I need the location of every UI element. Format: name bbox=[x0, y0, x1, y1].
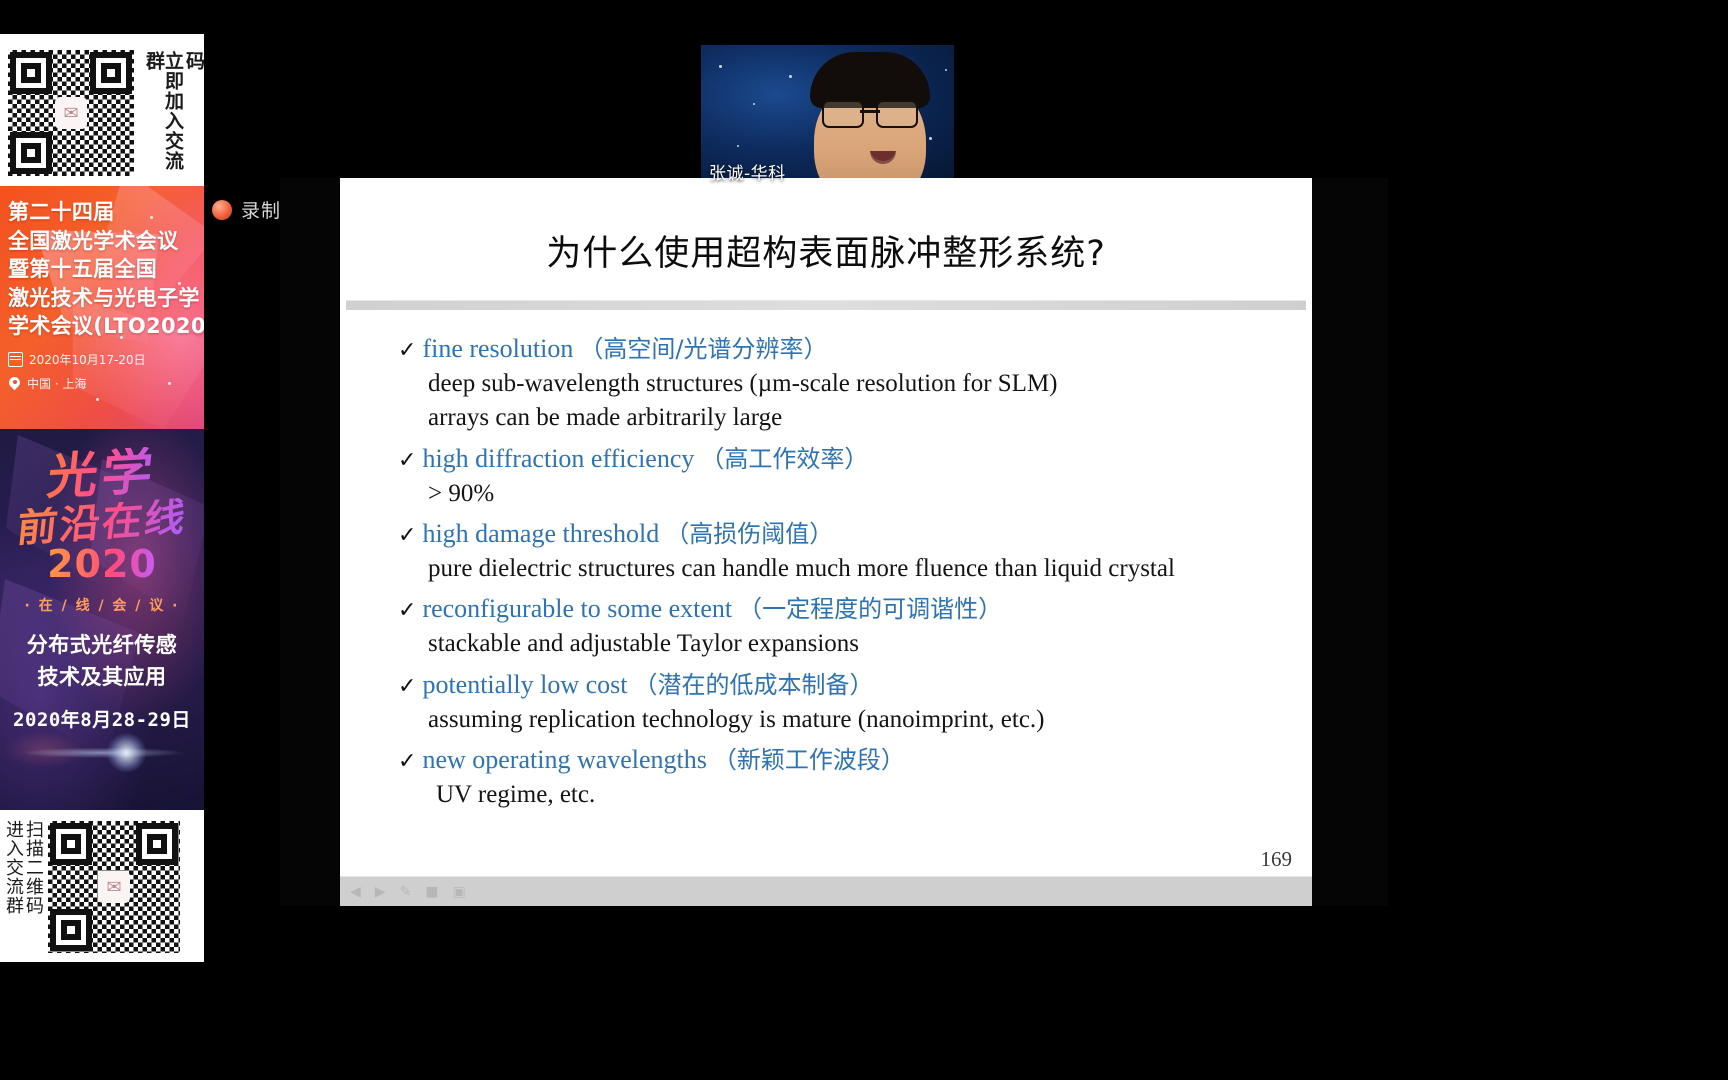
bullet-heading-en: reconfigurable to some extent bbox=[422, 592, 732, 627]
bullet-heading-en: fine resolution bbox=[422, 332, 573, 367]
bullet-group: ✓ high damage threshold （高损伤阈值） pure die… bbox=[398, 517, 1312, 586]
meeting-screen-share-area: 张诚-华科 录制 为什么使用超构表面脉冲整形系统? ✓ fine resolut… bbox=[204, 34, 1728, 962]
webinar-topic-line-2: 技术及其应用 bbox=[0, 663, 204, 693]
check-icon: ✓ bbox=[398, 450, 416, 472]
top-letterbox bbox=[0, 0, 1728, 34]
webinar-banner: 光学 前沿在线 2020 · 在 / 线 / 会 / 议 · 分布式光纤传感 技… bbox=[0, 429, 204, 810]
presentation-slide: 为什么使用超构表面脉冲整形系统? ✓ fine resolution （高空间/… bbox=[340, 178, 1312, 906]
qr-center-logo-icon: ✉ bbox=[55, 97, 87, 129]
conference-line-1: 第二十四届 bbox=[8, 198, 204, 227]
bullet-subtext: stackable and adjustable Taylor expansio… bbox=[428, 627, 1312, 662]
webinar-year: 2020 bbox=[47, 545, 157, 583]
check-icon: ✓ bbox=[398, 600, 416, 622]
conference-line-3: 暨第十五届全国 bbox=[8, 255, 204, 284]
slide-bullet-list: ✓ fine resolution （高空间/光谱分辨率） deep sub-w… bbox=[340, 310, 1312, 812]
bullet-heading-cn: （高损伤阈值） bbox=[665, 518, 833, 550]
qr-top-caption-left: 立即加入交流群 bbox=[144, 51, 182, 175]
bullet-heading-cn: （潜在的低成本制备） bbox=[634, 669, 874, 701]
bullet-subtext: assuming replication technology is matur… bbox=[428, 703, 1312, 738]
bullet-heading-en: high damage threshold bbox=[422, 517, 659, 552]
presenter-video-tile[interactable]: 张诚-华科 bbox=[701, 45, 954, 186]
qr-bottom-caption-left: 进入交流群 bbox=[4, 820, 22, 954]
next-slide-icon[interactable]: ▶ bbox=[375, 885, 386, 899]
pointer-icon[interactable]: ✎ bbox=[400, 885, 412, 899]
title-divider bbox=[346, 300, 1306, 310]
bullet-heading: ✓ new operating wavelengths （新颖工作波段） bbox=[398, 743, 1312, 778]
check-icon: ✓ bbox=[398, 751, 416, 773]
conference-meta: 2020年10月17-20日 中国 · 上海 bbox=[8, 351, 204, 392]
webinar-subtitle: · 在 / 线 / 会 / 议 · bbox=[0, 595, 204, 615]
share-frame-left bbox=[280, 178, 340, 906]
bullet-heading-cn: （一定程度的可调谐性） bbox=[738, 593, 1002, 625]
app-stage: ✉ 扫描左方二维码 立即加入交流群 第二十四届 全国激光学术会议 暨第十五届全国… bbox=[0, 0, 1728, 1080]
promo-sidebar: ✉ 扫描左方二维码 立即加入交流群 第二十四届 全国激光学术会议 暨第十五届全国… bbox=[0, 34, 204, 962]
glasses-icon bbox=[820, 100, 920, 124]
qr-center-logo-icon: ✉ bbox=[98, 871, 130, 903]
recording-label: 录制 bbox=[241, 196, 281, 223]
bullet-heading: ✓ reconfigurable to some extent （一定程度的可调… bbox=[398, 592, 1312, 627]
bullet-heading: ✓ high diffraction efficiency （高工作效率） bbox=[398, 442, 1312, 477]
location-pin-icon bbox=[8, 377, 21, 390]
check-icon: ✓ bbox=[398, 676, 416, 698]
conference-title-lines: 第二十四届 全国激光学术会议 暨第十五届全国 激光技术与光电子学 学术会议(LT… bbox=[8, 198, 204, 341]
share-frame-right bbox=[1312, 178, 1388, 906]
qr-code-icon[interactable]: ✉ bbox=[8, 50, 134, 176]
qr-top-block: ✉ 扫描左方二维码 立即加入交流群 bbox=[0, 34, 204, 186]
calendar-icon bbox=[8, 352, 23, 367]
webinar-brush-line-2: 前沿在线 bbox=[15, 497, 189, 549]
bullet-subtext: arrays can be made arbitrarily large bbox=[428, 401, 1312, 436]
conference-date-row: 2020年10月17-20日 bbox=[8, 351, 204, 368]
recording-indicator[interactable]: 录制 bbox=[212, 196, 281, 223]
qr-top-caption: 扫描左方二维码 立即加入交流群 bbox=[144, 51, 204, 175]
zoom-icon[interactable]: ▣ bbox=[453, 885, 466, 899]
bullet-group: ✓ fine resolution （高空间/光谱分辨率） deep sub-w… bbox=[398, 332, 1312, 436]
conference-line-2: 全国激光学术会议 bbox=[8, 227, 204, 256]
qr-code-icon[interactable]: ✉ bbox=[48, 821, 180, 953]
qr-bottom-caption: 扫描二维码 进入交流群 bbox=[4, 820, 42, 954]
record-dot-icon bbox=[212, 200, 232, 220]
bullet-heading: ✓ potentially low cost （潜在的低成本制备） bbox=[398, 668, 1312, 703]
webinar-brush-title: 光学 前沿在线 2020 bbox=[0, 429, 204, 583]
conference-line-4: 激光技术与光电子学 bbox=[8, 284, 204, 313]
bullet-subtext: > 90% bbox=[428, 477, 1312, 512]
bullet-heading-en: high diffraction efficiency bbox=[422, 442, 694, 477]
bullet-heading: ✓ fine resolution （高空间/光谱分辨率） bbox=[398, 332, 1312, 367]
slide-toolbar-icons[interactable]: ◀ ▶ ✎ ■ ▣ bbox=[350, 885, 466, 899]
qr-eye-bottom-left bbox=[10, 132, 52, 174]
conference-location: 中国 · 上海 bbox=[27, 375, 86, 392]
bullet-group: ✓ high diffraction efficiency （高工作效率） > … bbox=[398, 442, 1312, 511]
presenter-name-label: 张诚-华科 bbox=[709, 159, 786, 184]
bullet-heading-en: potentially low cost bbox=[422, 668, 627, 703]
bullet-heading-cn: （高工作效率） bbox=[700, 443, 868, 475]
bullet-group: ✓ new operating wavelengths （新颖工作波段） UV … bbox=[398, 743, 1312, 812]
right-letterbox bbox=[1456, 68, 1728, 844]
slide-page-number: 169 bbox=[1261, 847, 1293, 872]
slide-toolbar[interactable]: ◀ ▶ ✎ ■ ▣ bbox=[340, 876, 1312, 906]
qr-top-caption-right: 扫描左方二维码 bbox=[184, 51, 204, 175]
bullet-group: ✓ potentially low cost （潜在的低成本制备） assumi… bbox=[398, 668, 1312, 737]
qr-bottom-caption-right: 扫描二维码 bbox=[24, 820, 42, 954]
prev-slide-icon[interactable]: ◀ bbox=[350, 885, 361, 899]
slide-title: 为什么使用超构表面脉冲整形系统? bbox=[340, 201, 1312, 276]
webinar-topic-line-1: 分布式光纤传感 bbox=[0, 631, 204, 661]
conference-date: 2020年10月17-20日 bbox=[29, 351, 146, 368]
menu-icon[interactable]: ■ bbox=[425, 885, 438, 899]
check-icon: ✓ bbox=[398, 340, 416, 362]
bullet-subtext: pure dielectric structures can handle mu… bbox=[428, 552, 1312, 587]
bullet-subtext: UV regime, etc. bbox=[436, 778, 1312, 813]
conference-banner: 第二十四届 全国激光学术会议 暨第十五届全国 激光技术与光电子学 学术会议(LT… bbox=[0, 186, 204, 429]
check-icon: ✓ bbox=[398, 525, 416, 547]
bottom-letterbox bbox=[0, 962, 1728, 1080]
bullet-group: ✓ reconfigurable to some extent （一定程度的可调… bbox=[398, 592, 1312, 661]
bullet-subtext: deep sub-wavelength structures (µm-scale… bbox=[428, 367, 1312, 402]
qr-bottom-block: 扫描二维码 进入交流群 ✉ bbox=[0, 810, 204, 962]
bullet-heading: ✓ high damage threshold （高损伤阈值） bbox=[398, 517, 1312, 552]
bullet-heading-cn: （新颖工作波段） bbox=[713, 744, 905, 776]
bullet-heading-en: new operating wavelengths bbox=[422, 743, 706, 778]
qr-eye-bottom-left bbox=[50, 909, 92, 951]
bullet-heading-cn: （高空间/光谱分辨率） bbox=[579, 333, 827, 365]
conference-line-5: 学术会议(LTO2020) bbox=[8, 312, 204, 341]
webinar-brush-line-1: 光学 bbox=[45, 446, 159, 502]
conference-location-row: 中国 · 上海 bbox=[8, 375, 204, 392]
webinar-date: 2020年8月28-29日 bbox=[0, 705, 204, 732]
